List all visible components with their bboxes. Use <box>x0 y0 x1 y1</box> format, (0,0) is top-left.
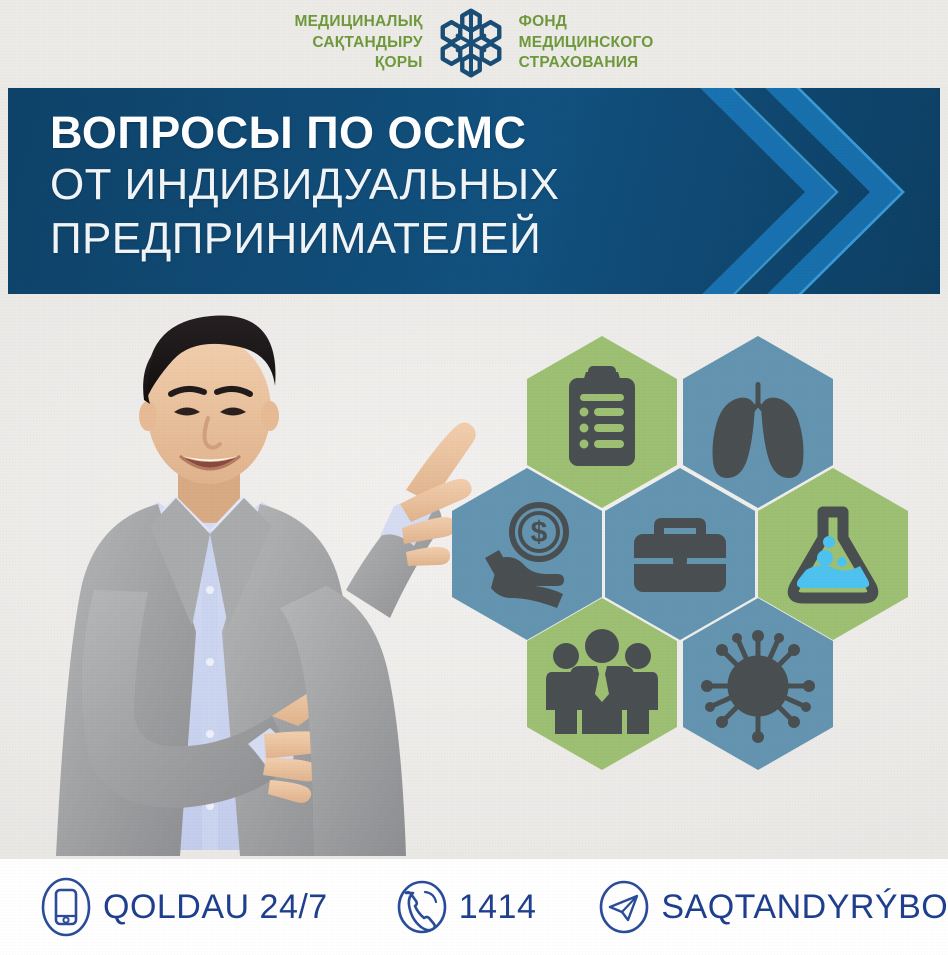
chevron-decoration-icon <box>650 88 940 294</box>
logo-ru-line-3: СТРАХОВАНИЯ <box>519 53 654 74</box>
headline-banner: ВОПРОСЫ ПО ОСМС ОТ ИНДИВИДУАЛЬНЫХ ПРЕДПР… <box>8 88 940 294</box>
contact-telegram-label: SAQTANDYRÝBOT <box>661 890 948 924</box>
logo-kk-line-1: МЕДИЦИНАЛЫҚ <box>294 12 422 33</box>
contact-hotline-label: 1414 <box>459 890 537 924</box>
logo-kk-line-3: ҚОРЫ <box>294 53 422 74</box>
contact-footer-bar: QOLDAU 24/7 1414 SAQTANDYRÝBOT <box>0 859 948 955</box>
contact-telegram-bot[interactable]: SAQTANDYRÝBOT <box>598 879 948 935</box>
headline-line-3: ПРЕДПРИНИМАТЕЛЕЙ <box>50 214 559 264</box>
headline-line-2: ОТ ИНДИВИДУАЛЬНЫХ <box>50 160 559 210</box>
hexagon-icon-cluster: $ <box>452 336 908 796</box>
main-stage: $ <box>0 294 948 859</box>
logo-kk-line-2: САҚТАНДЫРУ <box>294 33 422 54</box>
logo-text-russian: ФОНД МЕДИЦИНСКОГО СТРАХОВАНИЯ <box>519 12 654 75</box>
header-logo-bar: МЕДИЦИНАЛЫҚ САҚТАНДЫРУ ҚОРЫ <box>0 0 948 86</box>
telegram-plane-icon <box>598 879 650 935</box>
contact-hotline[interactable]: 1414 <box>396 879 537 935</box>
poster-root: МЕДИЦИНАЛЫҚ САҚТАНДЫРУ ҚОРЫ <box>0 0 948 955</box>
contact-qoldau[interactable]: QOLDAU 24/7 <box>40 877 328 937</box>
snowflake-hexagon-logo-icon <box>437 8 505 78</box>
virus-icon <box>701 630 815 743</box>
logo-ru-line-1: ФОНД <box>519 12 654 33</box>
logo-ru-line-2: МЕДИЦИНСКОГО <box>519 33 654 54</box>
logo-text-kazakh: МЕДИЦИНАЛЫҚ САҚТАНДЫРУ ҚОРЫ <box>294 12 422 75</box>
person-photo <box>8 294 478 859</box>
headline-line-1: ВОПРОСЫ ПО ОСМС <box>50 110 559 156</box>
contact-qoldau-label: QOLDAU 24/7 <box>103 890 328 924</box>
mobile-phone-icon <box>40 877 92 937</box>
phone-handset-icon <box>396 879 448 935</box>
svg-text:$: $ <box>531 516 548 549</box>
organization-logo: МЕДИЦИНАЛЫҚ САҚТАНДЫРУ ҚОРЫ <box>294 8 653 78</box>
headline-text-block: ВОПРОСЫ ПО ОСМС ОТ ИНДИВИДУАЛЬНЫХ ПРЕДПР… <box>50 110 559 264</box>
